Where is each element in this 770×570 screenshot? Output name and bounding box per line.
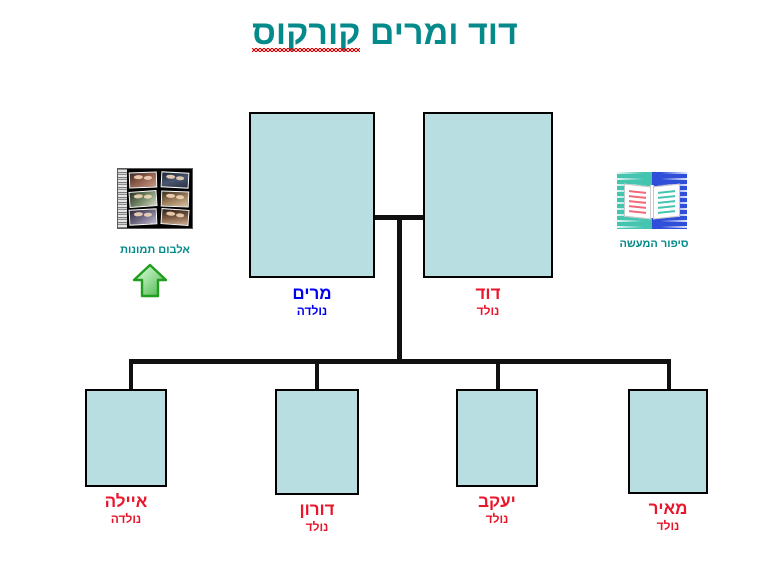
person-name: דורון [299, 500, 334, 520]
photo-album-label: אלבום תמונות [105, 244, 205, 256]
spellcheck-squiggle-underline [252, 48, 360, 52]
title-prefix: דוד ומרים [360, 14, 517, 52]
photo-placeholder-box[interactable] [628, 389, 708, 494]
title-misspelled-word: קורקוס [252, 14, 360, 53]
person-name: איילה [105, 492, 148, 512]
child-drop-line [667, 359, 671, 390]
album-photo-grid [129, 172, 189, 225]
album-photo-thumbnail [129, 172, 158, 189]
person-caption: יעקב נולד [478, 492, 516, 526]
photo-placeholder-box[interactable] [275, 389, 359, 495]
parents-to-children-drop-line [397, 217, 402, 363]
sibling-bar [129, 359, 671, 364]
family-tree-canvas: דוד ומרים קורקוס אלבום תמונות [0, 0, 770, 570]
story-book-label: סיפור המעשה [604, 238, 704, 250]
person-birth-status: נולדה [105, 512, 148, 526]
green-up-arrow-icon[interactable] [131, 263, 169, 299]
person-caption: מאיר נולד [649, 499, 688, 533]
album-photo-thumbnail [160, 208, 189, 226]
person-caption: דורון נולד [299, 500, 334, 534]
person-name: דוד [476, 284, 501, 304]
book-page-right [653, 184, 680, 220]
person-birth-status: נולד [649, 519, 688, 533]
person-name: יעקב [478, 492, 516, 512]
person-birth-status: נולד [476, 304, 501, 318]
person-name: מאיר [649, 499, 688, 519]
page-title: דוד ומרים קורקוס [0, 14, 770, 53]
album-spiral-binding [118, 169, 127, 228]
person-birth-status: נולד [478, 512, 516, 526]
child-drop-line [129, 359, 133, 390]
album-photo-thumbnail [161, 190, 190, 207]
book-page-left [624, 184, 651, 220]
title-misspelled-text: קורקוס [252, 14, 360, 52]
album-photo-thumbnail [161, 171, 190, 188]
person-birth-status: נולד [299, 520, 334, 534]
child-drop-line [315, 359, 319, 390]
person-caption: מרים נולדה [292, 284, 331, 318]
photo-placeholder-box[interactable] [249, 112, 375, 278]
photo-placeholder-box[interactable] [85, 389, 167, 487]
person-caption: דוד נולד [476, 284, 501, 318]
child-drop-line [496, 359, 500, 390]
person-birth-status: נולדה [292, 304, 331, 318]
person-caption: איילה נולדה [105, 492, 148, 526]
photo-placeholder-box[interactable] [456, 389, 538, 487]
open-book-icon[interactable] [617, 172, 687, 229]
person-name: מרים [292, 284, 331, 304]
photo-album-icon[interactable] [117, 168, 193, 229]
photo-placeholder-box[interactable] [423, 112, 553, 278]
album-photo-thumbnail [129, 209, 158, 226]
album-photo-thumbnail [128, 190, 157, 208]
